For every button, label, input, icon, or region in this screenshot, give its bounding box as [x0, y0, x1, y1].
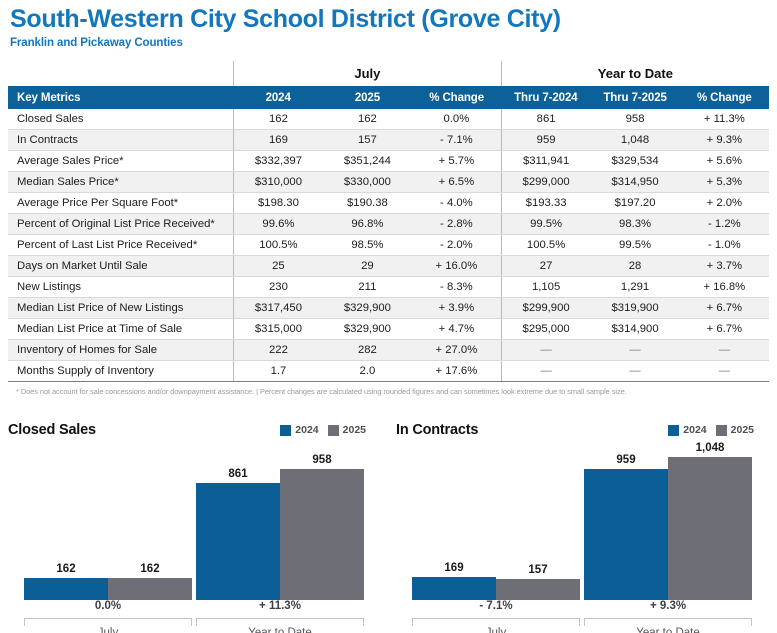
cell-july-change: - 8.3%: [412, 277, 501, 298]
legend-swatch-2025-icon: [716, 425, 727, 436]
axis-category: July: [22, 618, 194, 633]
axis-category-label: July: [22, 627, 194, 633]
axis-category-label: Year to Date: [194, 627, 366, 633]
bar-2025[interactable]: 1,048: [668, 457, 752, 600]
legend-swatch-2024-icon: [280, 425, 291, 436]
legend-swatch-2025-icon: [328, 425, 339, 436]
legend-label-2024: 2024: [683, 424, 706, 436]
cell-july-change: + 6.5%: [412, 172, 501, 193]
row-label: Median Sales Price*: [8, 172, 234, 193]
row-label: Median List Price of New Listings: [8, 298, 234, 319]
cell-ytd-2025: $197.20: [590, 193, 679, 214]
cell-july-2025: $351,244: [323, 151, 412, 172]
cell-july-2024: 162: [234, 109, 323, 130]
table-row: Months Supply of Inventory1.72.0+ 17.6%—…: [8, 361, 769, 382]
group-header-ytd: Year to Date: [501, 61, 769, 87]
page-title: South-Western City School District (Grov…: [10, 6, 777, 34]
table-row: Median List Price of New Listings$317,45…: [8, 298, 769, 319]
metrics-table-container: July Year to Date Key Metrics 2024 2025 …: [0, 61, 777, 397]
legend-label-2025: 2025: [731, 424, 754, 436]
bar-group: 9591,048: [582, 450, 754, 600]
bar-2025[interactable]: 157: [496, 579, 580, 600]
cell-ytd-2024: —: [501, 340, 590, 361]
cell-july-2025: $329,900: [323, 298, 412, 319]
col-header-ytd-change: % Change: [680, 87, 769, 109]
cell-july-2024: $332,397: [234, 151, 323, 172]
chart-header-in-contracts: In Contracts 2024 2025: [396, 418, 768, 442]
chart-header-closed-sales: Closed Sales 2024 2025: [8, 418, 380, 442]
bar-pair: 169157: [410, 450, 582, 600]
cell-ytd-2024: —: [501, 361, 590, 382]
cell-ytd-change: —: [680, 340, 769, 361]
bar-slot: 1,048: [668, 450, 752, 600]
cell-ytd-2024: 861: [501, 109, 590, 130]
cell-ytd-change: + 16.8%: [680, 277, 769, 298]
col-header-july-2025: 2025: [323, 87, 412, 109]
cell-july-change: - 2.8%: [412, 214, 501, 235]
cell-july-2025: $190.38: [323, 193, 412, 214]
cell-ytd-change: + 11.3%: [680, 109, 769, 130]
cell-ytd-2025: 28: [590, 256, 679, 277]
col-header-july-change: % Change: [412, 87, 501, 109]
cell-ytd-change: + 6.7%: [680, 298, 769, 319]
chart-in-contracts: In Contracts 2024 2025 1691579591,048 - …: [388, 418, 776, 633]
legend-item-2024: 2024: [280, 424, 318, 436]
percent-change-row-in-contracts: - 7.1%+ 9.3%: [410, 600, 754, 615]
cell-ytd-change: + 5.6%: [680, 151, 769, 172]
bar-2025[interactable]: 162: [108, 578, 192, 600]
cell-july-change: + 27.0%: [412, 340, 501, 361]
cell-ytd-change: - 1.2%: [680, 214, 769, 235]
bar-pair: 861958: [194, 450, 366, 600]
row-label: Inventory of Homes for Sale: [8, 340, 234, 361]
axis-category: July: [410, 618, 582, 633]
bar-2024[interactable]: 959: [584, 469, 668, 600]
bar-value-label: 162: [24, 563, 108, 575]
cell-july-2024: 99.6%: [234, 214, 323, 235]
charts-section: Closed Sales 2024 2025 162162861958 0.0%…: [0, 418, 777, 633]
cell-ytd-2025: 1,048: [590, 130, 679, 151]
bar-groups-in-contracts: 1691579591,048: [410, 450, 754, 600]
cell-july-2025: 282: [323, 340, 412, 361]
row-label: Percent of Last List Price Received*: [8, 235, 234, 256]
cell-july-2024: 100.5%: [234, 235, 323, 256]
cell-july-change: + 17.6%: [412, 361, 501, 382]
bar-value-label: 162: [108, 563, 192, 575]
cell-july-2025: 98.5%: [323, 235, 412, 256]
bar-2024[interactable]: 162: [24, 578, 108, 600]
cell-ytd-2024: 1,105: [501, 277, 590, 298]
row-label: Closed Sales: [8, 109, 234, 130]
legend-item-2025: 2025: [328, 424, 366, 436]
cell-ytd-change: + 9.3%: [680, 130, 769, 151]
cell-july-2025: 211: [323, 277, 412, 298]
cell-ytd-2025: —: [590, 361, 679, 382]
cell-july-2025: $330,000: [323, 172, 412, 193]
table-row: New Listings230211- 8.3%1,1051,291+ 16.8…: [8, 277, 769, 298]
table-row: In Contracts169157- 7.1%9591,048+ 9.3%: [8, 130, 769, 151]
bar-2024[interactable]: 861: [196, 483, 280, 600]
legend-label-2025: 2025: [343, 424, 366, 436]
table-row: Closed Sales1621620.0%861958+ 11.3%: [8, 109, 769, 130]
cell-ytd-change: + 3.7%: [680, 256, 769, 277]
chart-legend-closed-sales: 2024 2025: [280, 424, 380, 436]
cell-july-2024: $317,450: [234, 298, 323, 319]
cell-july-2025: 96.8%: [323, 214, 412, 235]
table-row: Median Sales Price*$310,000$330,000+ 6.5…: [8, 172, 769, 193]
cell-ytd-change: + 6.7%: [680, 319, 769, 340]
row-label: Average Price Per Square Foot*: [8, 193, 234, 214]
bar-pair: 162162: [22, 450, 194, 600]
cell-july-2025: 157: [323, 130, 412, 151]
page-subtitle: Franklin and Pickaway Counties: [10, 37, 777, 49]
plot-area-closed-sales: 162162861958 0.0%+ 11.3% JulyYear to Dat…: [8, 450, 380, 600]
plot-area-in-contracts: 1691579591,048 - 7.1%+ 9.3% JulyYear to …: [396, 450, 768, 600]
row-label: New Listings: [8, 277, 234, 298]
cell-july-change: - 2.0%: [412, 235, 501, 256]
col-header-july-2024: 2024: [234, 87, 323, 109]
percent-change-label: - 7.1%: [410, 600, 582, 615]
cell-july-2024: 1.7: [234, 361, 323, 382]
cell-ytd-2025: 1,291: [590, 277, 679, 298]
cell-july-2025: $329,900: [323, 319, 412, 340]
col-header-key-metrics: Key Metrics: [8, 87, 234, 109]
bar-slot: 959: [584, 450, 668, 600]
row-label: Months Supply of Inventory: [8, 361, 234, 382]
table-row: Inventory of Homes for Sale222282+ 27.0%…: [8, 340, 769, 361]
report-header: South-Western City School District (Grov…: [0, 0, 777, 49]
table-row: Average Price Per Square Foot*$198.30$19…: [8, 193, 769, 214]
cell-july-change: + 3.9%: [412, 298, 501, 319]
table-footnote: * Does not account for sale concessions …: [16, 387, 761, 396]
bar-group: 861958: [194, 450, 366, 600]
cell-ytd-2024: $311,941: [501, 151, 590, 172]
cell-july-2024: 25: [234, 256, 323, 277]
cell-july-2024: 169: [234, 130, 323, 151]
cell-ytd-2025: 958: [590, 109, 679, 130]
cell-july-change: 0.0%: [412, 109, 501, 130]
bar-value-label: 157: [496, 564, 580, 576]
legend-swatch-2024-icon: [668, 425, 679, 436]
row-label: Percent of Original List Price Received*: [8, 214, 234, 235]
cell-ytd-2025: $314,950: [590, 172, 679, 193]
bar-groups-closed-sales: 162162861958: [22, 450, 366, 600]
row-label: Median List Price at Time of Sale: [8, 319, 234, 340]
cell-ytd-2024: 99.5%: [501, 214, 590, 235]
bar-group: 162162: [22, 450, 194, 600]
legend-label-2024: 2024: [295, 424, 318, 436]
percent-change-row-closed-sales: 0.0%+ 11.3%: [22, 600, 366, 615]
legend-item-2024: 2024: [668, 424, 706, 436]
table-row: Percent of Original List Price Received*…: [8, 214, 769, 235]
chart-title-closed-sales: Closed Sales: [8, 422, 96, 438]
table-row: Median List Price at Time of Sale$315,00…: [8, 319, 769, 340]
cell-ytd-2024: $299,900: [501, 298, 590, 319]
bar-value-label: 1,048: [668, 442, 752, 454]
cell-july-change: - 7.1%: [412, 130, 501, 151]
col-header-ytd-2024: Thru 7-2024: [501, 87, 590, 109]
row-label: In Contracts: [8, 130, 234, 151]
cell-july-2024: 222: [234, 340, 323, 361]
chart-closed-sales: Closed Sales 2024 2025 162162861958 0.0%…: [0, 418, 388, 633]
cell-july-change: + 5.7%: [412, 151, 501, 172]
bar-slot: 958: [280, 450, 364, 600]
category-axis-closed-sales: JulyYear to Date: [22, 618, 366, 633]
col-header-ytd-2025: Thru 7-2025: [590, 87, 679, 109]
cell-july-change: - 4.0%: [412, 193, 501, 214]
percent-change-label: + 9.3%: [582, 600, 754, 615]
cell-ytd-2025: —: [590, 340, 679, 361]
percent-change-label: + 11.3%: [194, 600, 366, 615]
axis-category: Year to Date: [194, 618, 366, 633]
key-metrics-table: July Year to Date Key Metrics 2024 2025 …: [8, 61, 769, 383]
bar-slot: 162: [24, 450, 108, 600]
cell-july-change: + 4.7%: [412, 319, 501, 340]
cell-july-2024: 230: [234, 277, 323, 298]
cell-ytd-change: —: [680, 361, 769, 382]
cell-july-2025: 162: [323, 109, 412, 130]
cell-ytd-2025: $319,900: [590, 298, 679, 319]
group-header-row: July Year to Date: [8, 61, 769, 87]
bar-value-label: 861: [196, 468, 280, 480]
cell-ytd-2025: $314,900: [590, 319, 679, 340]
axis-category-label: Year to Date: [582, 627, 754, 633]
cell-july-2024: $198.30: [234, 193, 323, 214]
report-page: South-Western City School District (Grov…: [0, 0, 777, 633]
bar-slot: 157: [496, 450, 580, 600]
table-row: Days on Market Until Sale2529+ 16.0%2728…: [8, 256, 769, 277]
row-label: Days on Market Until Sale: [8, 256, 234, 277]
bar-2025[interactable]: 958: [280, 469, 364, 600]
bar-value-label: 959: [584, 454, 668, 466]
cell-ytd-change: + 2.0%: [680, 193, 769, 214]
legend-item-2025: 2025: [716, 424, 754, 436]
bar-pair: 9591,048: [582, 450, 754, 600]
cell-ytd-2025: $329,534: [590, 151, 679, 172]
table-row: Percent of Last List Price Received*100.…: [8, 235, 769, 256]
cell-ytd-2024: $299,000: [501, 172, 590, 193]
group-header-july: July: [234, 61, 502, 87]
cell-ytd-2024: 959: [501, 130, 590, 151]
bar-slot: 162: [108, 450, 192, 600]
cell-july-2024: $315,000: [234, 319, 323, 340]
bar-slot: 169: [412, 450, 496, 600]
cell-july-2024: $310,000: [234, 172, 323, 193]
cell-ytd-2024: $295,000: [501, 319, 590, 340]
cell-july-change: + 16.0%: [412, 256, 501, 277]
cell-ytd-change: - 1.0%: [680, 235, 769, 256]
column-header-row: Key Metrics 2024 2025 % Change Thru 7-20…: [8, 87, 769, 109]
cell-ytd-2024: 27: [501, 256, 590, 277]
chart-title-in-contracts: In Contracts: [396, 422, 478, 438]
bar-2024[interactable]: 169: [412, 577, 496, 600]
row-label: Average Sales Price*: [8, 151, 234, 172]
bar-value-label: 958: [280, 454, 364, 466]
category-axis-in-contracts: JulyYear to Date: [410, 618, 754, 633]
axis-category: Year to Date: [582, 618, 754, 633]
group-header-blank: [8, 61, 234, 87]
bar-value-label: 169: [412, 562, 496, 574]
table-row: Average Sales Price*$332,397$351,244+ 5.…: [8, 151, 769, 172]
cell-ytd-2024: $193.33: [501, 193, 590, 214]
cell-ytd-2025: 98.3%: [590, 214, 679, 235]
table-body: Closed Sales1621620.0%861958+ 11.3%In Co…: [8, 109, 769, 382]
cell-july-2025: 2.0: [323, 361, 412, 382]
cell-ytd-2025: 99.5%: [590, 235, 679, 256]
percent-change-label: 0.0%: [22, 600, 194, 615]
bar-group: 169157: [410, 450, 582, 600]
cell-ytd-change: + 5.3%: [680, 172, 769, 193]
chart-legend-in-contracts: 2024 2025: [668, 424, 768, 436]
bar-slot: 861: [196, 450, 280, 600]
table-head: July Year to Date Key Metrics 2024 2025 …: [8, 61, 769, 109]
axis-category-label: July: [410, 627, 582, 633]
cell-ytd-2024: 100.5%: [501, 235, 590, 256]
cell-july-2025: 29: [323, 256, 412, 277]
